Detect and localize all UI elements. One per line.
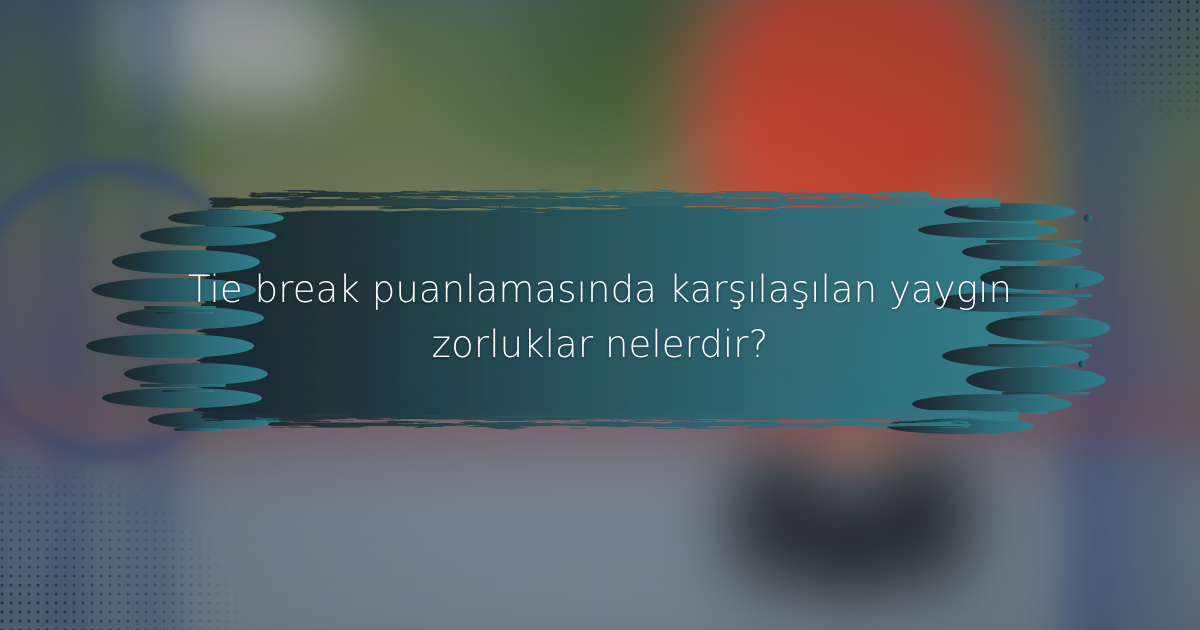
headline-text: Tie break puanlamasında karşılaşılan yay…: [150, 262, 1050, 372]
share-card: Tie break puanlamasında karşılaşılan yay…: [0, 0, 1200, 630]
